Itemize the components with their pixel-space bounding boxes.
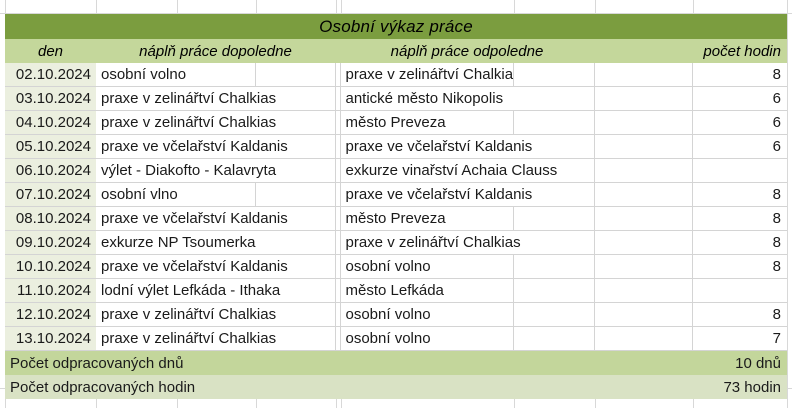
cell-afternoon: praxe v zelinářtví Chalkias	[340, 63, 513, 87]
cell-morning-spill	[255, 183, 335, 207]
cell-morning: praxe v zelinářtví Chalkias	[96, 111, 335, 135]
cell-hours: 8	[692, 303, 787, 327]
cell-morning: výlet - Diakofto - Kalavryta	[96, 159, 335, 183]
cell-morning: praxe v zelinářtví Chalkias	[96, 87, 335, 111]
cell-morning: osobní vlno	[96, 183, 255, 207]
column-header-afternoon: náplň práce odpoledne	[340, 39, 594, 63]
cell-spacer-2	[594, 207, 692, 231]
cell-spacer-2	[594, 279, 692, 303]
summary-value-hours: 73 hodin	[513, 375, 787, 399]
cell-spacer-2	[594, 327, 692, 351]
cell-spacer-2	[594, 231, 692, 255]
cell-day: 07.10.2024	[5, 183, 96, 207]
cell-morning: praxe ve včelařství Kaldanis	[96, 207, 335, 231]
cell-afternoon: město Preveza	[340, 207, 513, 231]
cell-afternoon: antické město Nikopolis	[340, 87, 594, 111]
cell-morning: praxe v zelinářtví Chalkias	[96, 327, 335, 351]
table-row[interactable]: 03.10.2024 praxe v zelinářtví Chalkias a…	[5, 87, 787, 111]
cell-afternoon: praxe ve včelařství Kaldanis	[340, 183, 594, 207]
cell-hours: 8	[692, 255, 787, 279]
cell-morning: osobní volno	[96, 63, 255, 87]
table-row[interactable]: 13.10.2024 praxe v zelinářtví Chalkias o…	[5, 327, 787, 351]
table-row[interactable]: 09.10.2024 exkurze NP Tsoumerka praxe v …	[5, 231, 787, 255]
cell-afternoon: osobní volno	[340, 255, 513, 279]
summary-row-days: Počet odpracovaných dnů 10 dnů	[5, 351, 787, 376]
grid-column-line	[787, 0, 788, 408]
cell-day: 09.10.2024	[5, 231, 96, 255]
cell-afternoon: město Preveza	[340, 111, 513, 135]
cell-afternoon-spill	[513, 255, 594, 279]
cell-hours: 8	[692, 207, 787, 231]
table-row[interactable]: 11.10.2024 lodní výlet Lefkáda - Ithaka …	[5, 279, 787, 303]
cell-afternoon-spill	[513, 279, 594, 303]
cell-afternoon-spill	[513, 63, 594, 87]
cell-morning: praxe ve včelařství Kaldanis	[96, 135, 335, 159]
cell-day: 06.10.2024	[5, 159, 96, 183]
work-report-table-container: Osobní výkaz práce den náplň práce dopol…	[5, 14, 787, 399]
cell-afternoon: praxe v zelinářtví Chalkias	[340, 231, 594, 255]
cell-day: 11.10.2024	[5, 279, 96, 303]
cell-day: 05.10.2024	[5, 135, 96, 159]
cell-hours: 6	[692, 111, 787, 135]
work-report-table: Osobní výkaz práce den náplň práce dopol…	[5, 14, 787, 399]
cell-day: 02.10.2024	[5, 63, 96, 87]
table-row[interactable]: 04.10.2024 praxe v zelinářtví Chalkias m…	[5, 111, 787, 135]
cell-afternoon-spill	[513, 207, 594, 231]
cell-spacer-2	[594, 135, 692, 159]
cell-afternoon: praxe ve včelařství Kaldanis	[340, 135, 594, 159]
cell-afternoon: město Lefkáda	[340, 279, 513, 303]
cell-day: 13.10.2024	[5, 327, 96, 351]
cell-afternoon: osobní volno	[340, 303, 513, 327]
table-header-row: den náplň práce dopoledne náplň práce od…	[5, 39, 787, 63]
cell-day: 03.10.2024	[5, 87, 96, 111]
cell-hours	[692, 159, 787, 183]
cell-morning-spill	[255, 63, 335, 87]
table-row[interactable]: 05.10.2024 praxe ve včelařství Kaldanis …	[5, 135, 787, 159]
table-row[interactable]: 07.10.2024 osobní vlno praxe ve včelařst…	[5, 183, 787, 207]
spreadsheet-canvas: Osobní výkaz práce den náplň práce dopol…	[0, 0, 792, 408]
page-title: Osobní výkaz práce	[5, 14, 787, 39]
cell-spacer-2	[594, 183, 692, 207]
cell-morning: praxe v zelinářtví Chalkias	[96, 303, 335, 327]
table-row[interactable]: 10.10.2024 praxe ve včelařství Kaldanis …	[5, 255, 787, 279]
column-header-morning: náplň práce dopoledne	[96, 39, 335, 63]
table-row[interactable]: 06.10.2024 výlet - Diakofto - Kalavryta …	[5, 159, 787, 183]
cell-spacer-2	[594, 159, 692, 183]
cell-afternoon: osobní volno	[340, 327, 513, 351]
summary-value-days: 10 dnů	[513, 351, 787, 376]
summary-label-hours: Počet odpracovaných hodin	[5, 375, 513, 399]
cell-day: 10.10.2024	[5, 255, 96, 279]
cell-day: 04.10.2024	[5, 111, 96, 135]
cell-hours: 6	[692, 87, 787, 111]
cell-afternoon-spill	[513, 111, 594, 135]
cell-hours	[692, 279, 787, 303]
cell-morning: praxe ve včelařství Kaldanis	[96, 255, 335, 279]
column-header-spacer-2	[594, 39, 692, 63]
column-header-hours: počet hodin	[692, 39, 787, 63]
cell-day: 12.10.2024	[5, 303, 96, 327]
cell-hours: 8	[692, 63, 787, 87]
column-header-day: den	[5, 39, 96, 63]
cell-spacer-2	[594, 255, 692, 279]
cell-spacer-2	[594, 111, 692, 135]
cell-day: 08.10.2024	[5, 207, 96, 231]
cell-afternoon-spill	[513, 303, 594, 327]
report-title-row: Osobní výkaz práce	[5, 14, 787, 39]
table-row[interactable]: 12.10.2024 praxe v zelinářtví Chalkias o…	[5, 303, 787, 327]
cell-morning: exkurze NP Tsoumerka	[96, 231, 335, 255]
cell-afternoon: exkurze vinařství Achaia Clauss	[340, 159, 594, 183]
cell-hours: 6	[692, 135, 787, 159]
cell-hours: 8	[692, 183, 787, 207]
cell-hours: 7	[692, 327, 787, 351]
cell-spacer-2	[594, 63, 692, 87]
cell-spacer-2	[594, 87, 692, 111]
summary-label-days: Počet odpracovaných dnů	[5, 351, 513, 376]
table-row[interactable]: 02.10.2024 osobní volno praxe v zelinářt…	[5, 63, 787, 87]
summary-row-hours: Počet odpracovaných hodin 73 hodin	[5, 375, 787, 399]
cell-morning: lodní výlet Lefkáda - Ithaka	[96, 279, 335, 303]
cell-hours: 8	[692, 231, 787, 255]
table-row[interactable]: 08.10.2024 praxe ve včelařství Kaldanis …	[5, 207, 787, 231]
cell-spacer-2	[594, 303, 692, 327]
cell-afternoon-spill	[513, 327, 594, 351]
